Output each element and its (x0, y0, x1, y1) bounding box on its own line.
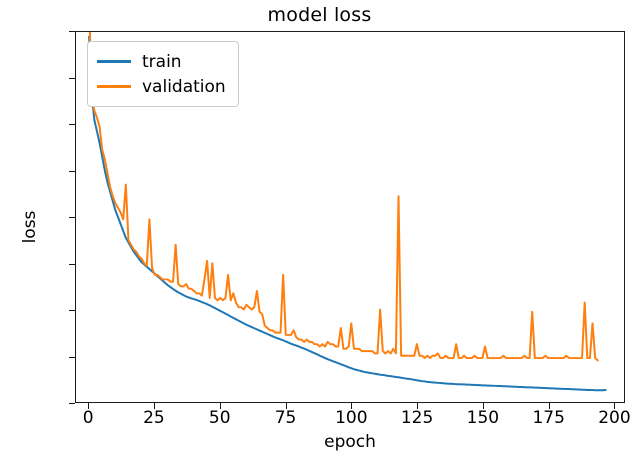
chart-title: model loss (0, 4, 639, 26)
y-tick-mark (69, 403, 75, 404)
legend: train validation (87, 41, 239, 107)
x-tick-mark (88, 403, 89, 409)
x-tick-mark (286, 403, 287, 409)
x-tick-mark (351, 403, 352, 409)
legend-label-train: train (142, 52, 182, 72)
x-tick-mark (483, 403, 484, 409)
legend-entry-validation: validation (97, 74, 226, 99)
x-tick-label: 200 (574, 408, 639, 428)
x-tick-mark (549, 403, 550, 409)
matplotlib-figure: model loss loss epoch 0.00.20.40.60.81.0… (0, 0, 639, 462)
legend-swatch-train (97, 60, 131, 63)
plot-area: train validation (75, 31, 625, 403)
legend-label-validation: validation (142, 77, 226, 97)
x-tick-mark (220, 403, 221, 409)
x-axis-label: epoch (75, 432, 625, 452)
x-tick-mark (614, 403, 615, 409)
y-axis-label: loss (20, 187, 40, 267)
x-tick-mark (154, 403, 155, 409)
legend-swatch-validation (97, 85, 131, 88)
x-tick-mark (417, 403, 418, 409)
legend-entry-train: train (97, 49, 226, 74)
